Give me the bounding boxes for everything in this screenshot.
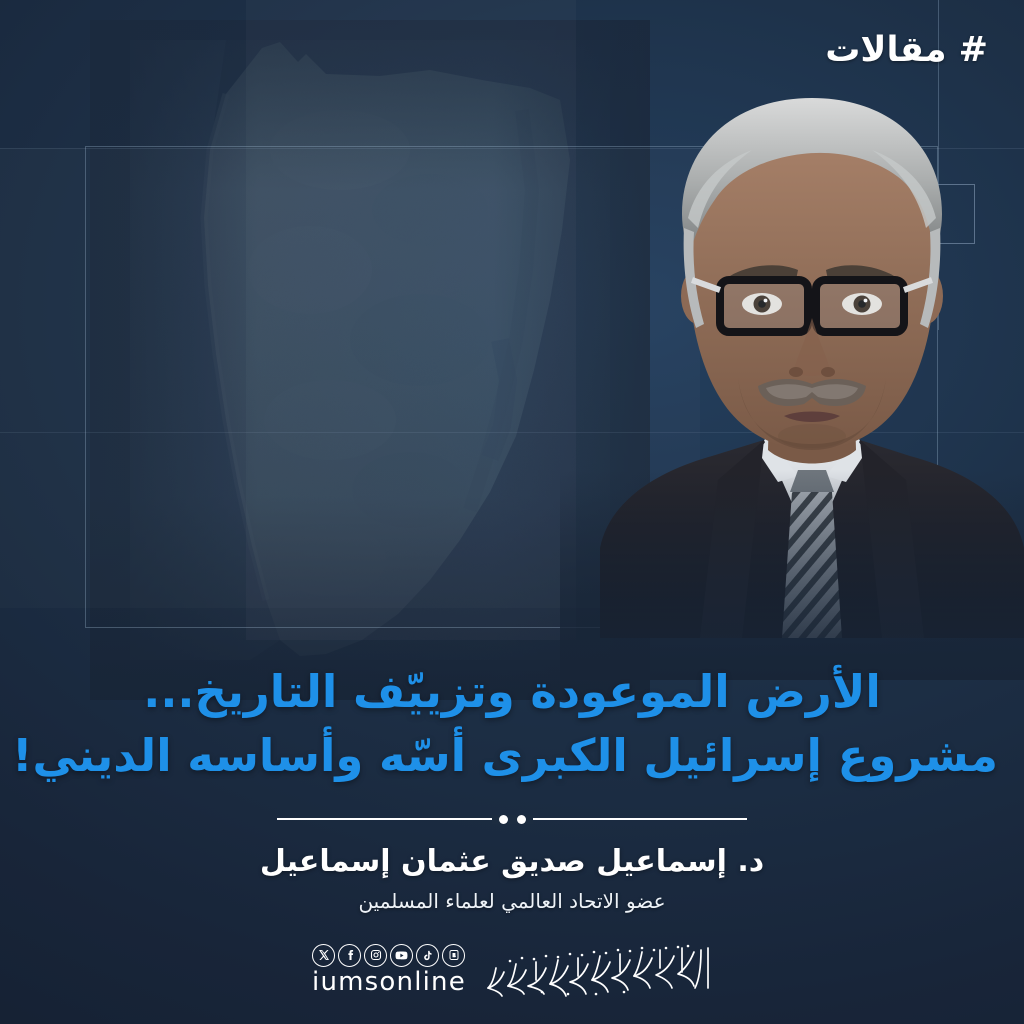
instagram-icon[interactable]	[364, 944, 387, 967]
brand-handle-group: iumsonline	[312, 944, 466, 995]
content-block: الأرض الموعودة وتزييّف التاريخ... مشروع …	[0, 660, 1024, 1024]
page-title: الأرض الموعودة وتزييّف التاريخ... مشروع …	[0, 660, 1024, 788]
social-icons	[312, 944, 465, 967]
divider-dot-1	[517, 815, 526, 824]
author-portrait	[592, 78, 1024, 638]
brand-handle[interactable]: iumsonline	[312, 969, 466, 995]
satellite-map-background	[130, 40, 610, 660]
footer-brand: iumsonline	[0, 938, 1024, 1000]
headline-line-1: الأرض الموعودة وتزييّف التاريخ...	[26, 660, 998, 724]
iums-calligraphy-logo	[482, 938, 712, 1000]
facebook-icon[interactable]	[338, 944, 361, 967]
youtube-icon[interactable]	[390, 944, 413, 967]
author-name: د. إسماعيل صديق عثمان إسماعيل	[0, 842, 1024, 881]
article-card: # مقالات الأرض الموعودة وتزييّف التاريخ.…	[0, 0, 1024, 1024]
x-icon[interactable]	[312, 944, 335, 967]
hashtag-label[interactable]: # مقالات	[825, 30, 988, 70]
headline-line-2: مشروع إسرائيل الكبرى أسّه وأساسه الديني!	[26, 724, 998, 788]
divider-dot-2	[499, 815, 508, 824]
threads-icon[interactable]	[442, 944, 465, 967]
tiktok-icon[interactable]	[416, 944, 439, 967]
divider-dots	[492, 815, 533, 824]
author-role: عضو الاتحاد العالمي لعلماء المسلمين	[0, 887, 1024, 916]
divider	[277, 810, 747, 828]
